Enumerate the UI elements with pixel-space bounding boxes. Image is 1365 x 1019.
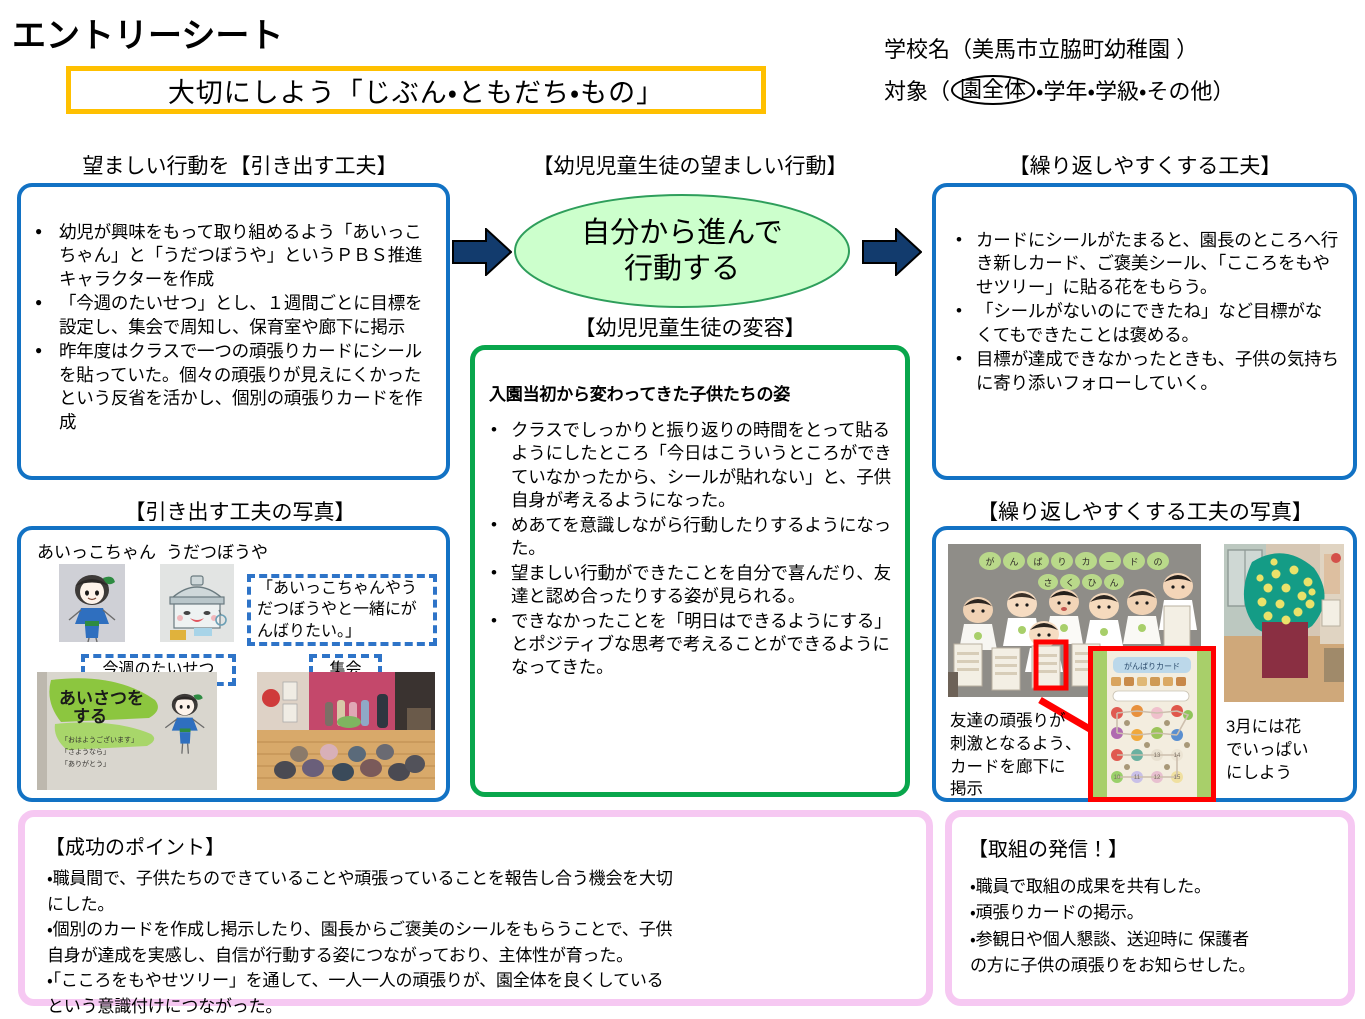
list-item: 「シールがないのにできたね」など目標がなくてもできたことは褒める。 bbox=[950, 300, 1339, 347]
list-item: 昨年度はクラスで一つの頑張りカードにシールを貼っていた。個々の頑張りが見えにくか… bbox=[33, 340, 436, 434]
ellipse-line-1: 自分から進んで bbox=[581, 215, 783, 251]
left-strategies-box: 幼児が興味をもって取り組めるよう「あいっこちゃん」と「うだつぼうや」というＰＢＳ… bbox=[17, 183, 450, 480]
svg-text:が: が bbox=[985, 556, 994, 567]
student-change-list: クラスでしっかりと振り返りの時間をとって貼るようにしたところ「今日はこういうとこ… bbox=[485, 419, 893, 680]
mascot-label-udatsu: うだつぼうや bbox=[166, 538, 268, 563]
svg-text:14: 14 bbox=[1174, 753, 1181, 759]
svg-text:ん: ん bbox=[1009, 557, 1018, 567]
right-strategies-box: カードにシールがたまると、園長のところへ行き新しカード、ご褒美シール、「こころを… bbox=[932, 183, 1357, 480]
photo-assembly bbox=[257, 672, 435, 790]
target-selected-option: 園全体 bbox=[951, 75, 1035, 105]
svg-text:カ: カ bbox=[1081, 557, 1090, 567]
list-item: クラスでしっかりと振り返りの時間をとって貼るようにしたところ「今日はこういうとこ… bbox=[485, 419, 893, 513]
svg-text:あいさつを: あいさつを bbox=[59, 689, 144, 708]
photo-zoomed-card: がんばりカード bbox=[1088, 646, 1216, 802]
svg-text:ば: ば bbox=[1033, 557, 1042, 567]
svg-text:さ: さ bbox=[1043, 578, 1052, 588]
svg-text:ド: ド bbox=[1129, 557, 1138, 567]
svg-text:する: する bbox=[73, 707, 107, 726]
ellipse-line-2: 行動する bbox=[624, 251, 740, 287]
svg-text:ん: ん bbox=[1109, 578, 1118, 588]
svg-text:12: 12 bbox=[1154, 775, 1161, 781]
mascot-label-aikko: あいっこちゃん bbox=[37, 538, 156, 563]
left-photos-caption: 【引き出す工夫の写真】 bbox=[30, 496, 450, 526]
student-change-box: 入園当初から変わってきた子供たちの姿 クラスでしっかりと振り返りの時間をとって貼… bbox=[470, 345, 910, 797]
left-panel-caption: 望ましい行動を【引き出す工夫】 bbox=[30, 150, 450, 180]
list-item: 目標が達成できなかったときも、子供の気持ちに寄り添いフォローしていく。 bbox=[950, 348, 1339, 395]
caption-hallway-cards: 友達の頑張りが 刺激となるよう、 カードを廊下に 掲示 bbox=[950, 710, 1100, 801]
photo-greeting-poster: あいさつを する 「おはようございます」 「さようなら」 「ありがとう」 bbox=[37, 672, 217, 790]
target-scope-label: 対象（園全体・学年・学級・その他） bbox=[884, 74, 1234, 106]
success-points-title: 【成功のポイント】 bbox=[45, 831, 926, 860]
arrow-right-icon-left bbox=[452, 228, 512, 276]
success-points-body: ・職員間で、子供たちのできていることや頑張っていることを報告し合う機会を大切 に… bbox=[47, 866, 910, 1019]
target-prefix: 対象（ bbox=[884, 74, 950, 106]
right-strategy-list: カードにシールがたまると、園長のところへ行き新しカード、ご褒美シール、「こころを… bbox=[950, 229, 1339, 395]
svg-text:がんばりカード: がんばりカード bbox=[1124, 661, 1180, 671]
school-name-label: 学校名（美馬市立脇町幼稚園 ） bbox=[884, 32, 1198, 64]
left-strategy-list: 幼児が興味をもって取り組めるよう「あいっこちゃん」と「うだつぼうや」というＰＢＳ… bbox=[33, 221, 436, 434]
slogan-text: 大切にしよう「じぶん・ともだち・もの」 bbox=[168, 71, 664, 110]
slogan-banner: 大切にしよう「じぶん・ともだち・もの」 bbox=[66, 66, 766, 114]
target-remaining-options: ・学年・学級・その他） bbox=[1036, 74, 1234, 106]
desired-behavior-text: 自分から進んで 行動する bbox=[512, 192, 852, 310]
right-panel-caption: 【繰り返しやすくする工夫】 bbox=[930, 150, 1360, 180]
svg-text:13: 13 bbox=[1154, 753, 1161, 759]
success-points-box: 【成功のポイント】 ・職員間で、子供たちのできていることや頑張っていることを報告… bbox=[18, 810, 933, 1006]
list-item: 幼児が興味をもって取り組めるよう「あいっこちゃん」と「うだつぼうや」というＰＢＳ… bbox=[33, 221, 436, 291]
svg-text:「さようなら」: 「さようなら」 bbox=[61, 748, 110, 756]
svg-text:く: く bbox=[1065, 578, 1074, 588]
broadcast-title: 【取組の発信！】 bbox=[968, 833, 1348, 862]
photo-mascot-udatsu bbox=[160, 564, 234, 642]
arrow-right-icon-right bbox=[862, 228, 922, 276]
svg-text:15: 15 bbox=[1174, 775, 1181, 781]
svg-text:り: り bbox=[1057, 557, 1066, 567]
photo-heart-tree bbox=[1224, 544, 1344, 702]
list-item: カードにシールがたまると、園長のところへ行き新しカード、ご褒美シール、「こころを… bbox=[950, 229, 1339, 299]
page-title: エントリーシート bbox=[12, 8, 283, 57]
left-photos-box: あいっこちゃん うだつぼうや bbox=[17, 526, 450, 802]
broadcast-body: ・職員で取組の成果を共有した。 ・頑張りカードの掲示。 ・参観日や個人懇談、送迎… bbox=[970, 874, 1338, 979]
list-item: できなかったことを「明日はできるようにする」とポジティブな思考で考えることができ… bbox=[485, 610, 893, 680]
center-top-caption: 【幼児児童生徒の望ましい行動】 bbox=[465, 150, 915, 180]
callout-child-quote-text: 「あいっこちゃんやうだつぼうやと一緒にがんばりたい。」 bbox=[257, 578, 427, 641]
right-photos-box: がんばり カードの さくひん bbox=[932, 526, 1357, 802]
svg-text:ー: ー bbox=[1105, 557, 1114, 567]
svg-text:ひ: ひ bbox=[1087, 578, 1096, 588]
student-change-heading: 入園当初から変わってきた子供たちの姿 bbox=[489, 380, 905, 405]
list-item: 「今週のたいせつ」とし、１週間ごとに目標を設定し、集会で周知し、保育室や廊下に掲… bbox=[33, 292, 436, 339]
svg-text:「おはようございます」: 「おはようございます」 bbox=[61, 735, 138, 744]
photo-mascot-aikko bbox=[59, 564, 125, 642]
broadcast-box: 【取組の発信！】 ・職員で取組の成果を共有した。 ・頑張りカードの掲示。 ・参観… bbox=[945, 810, 1355, 1006]
list-item: めあてを意識しながら行動したりするようになった。 bbox=[485, 514, 893, 561]
caption-heart-tree: 3月には花 でいっぱい にしよう bbox=[1226, 716, 1346, 784]
svg-text:10: 10 bbox=[1114, 775, 1121, 781]
center-mid-caption: 【幼児児童生徒の変容】 bbox=[465, 312, 915, 342]
list-item: 望ましい行動ができたことを自分で喜んだり、友達と認め合ったりする姿が見られる。 bbox=[485, 562, 893, 609]
svg-text:の: の bbox=[1153, 557, 1162, 567]
svg-text:11: 11 bbox=[1134, 775, 1141, 781]
right-photos-caption: 【繰り返しやすくする工夫の写真】 bbox=[930, 496, 1360, 526]
callout-child-quote: 「あいっこちゃんやうだつぼうやと一緒にがんばりたい。」 bbox=[247, 574, 437, 646]
svg-text:「ありがとう」: 「ありがとう」 bbox=[61, 759, 110, 768]
